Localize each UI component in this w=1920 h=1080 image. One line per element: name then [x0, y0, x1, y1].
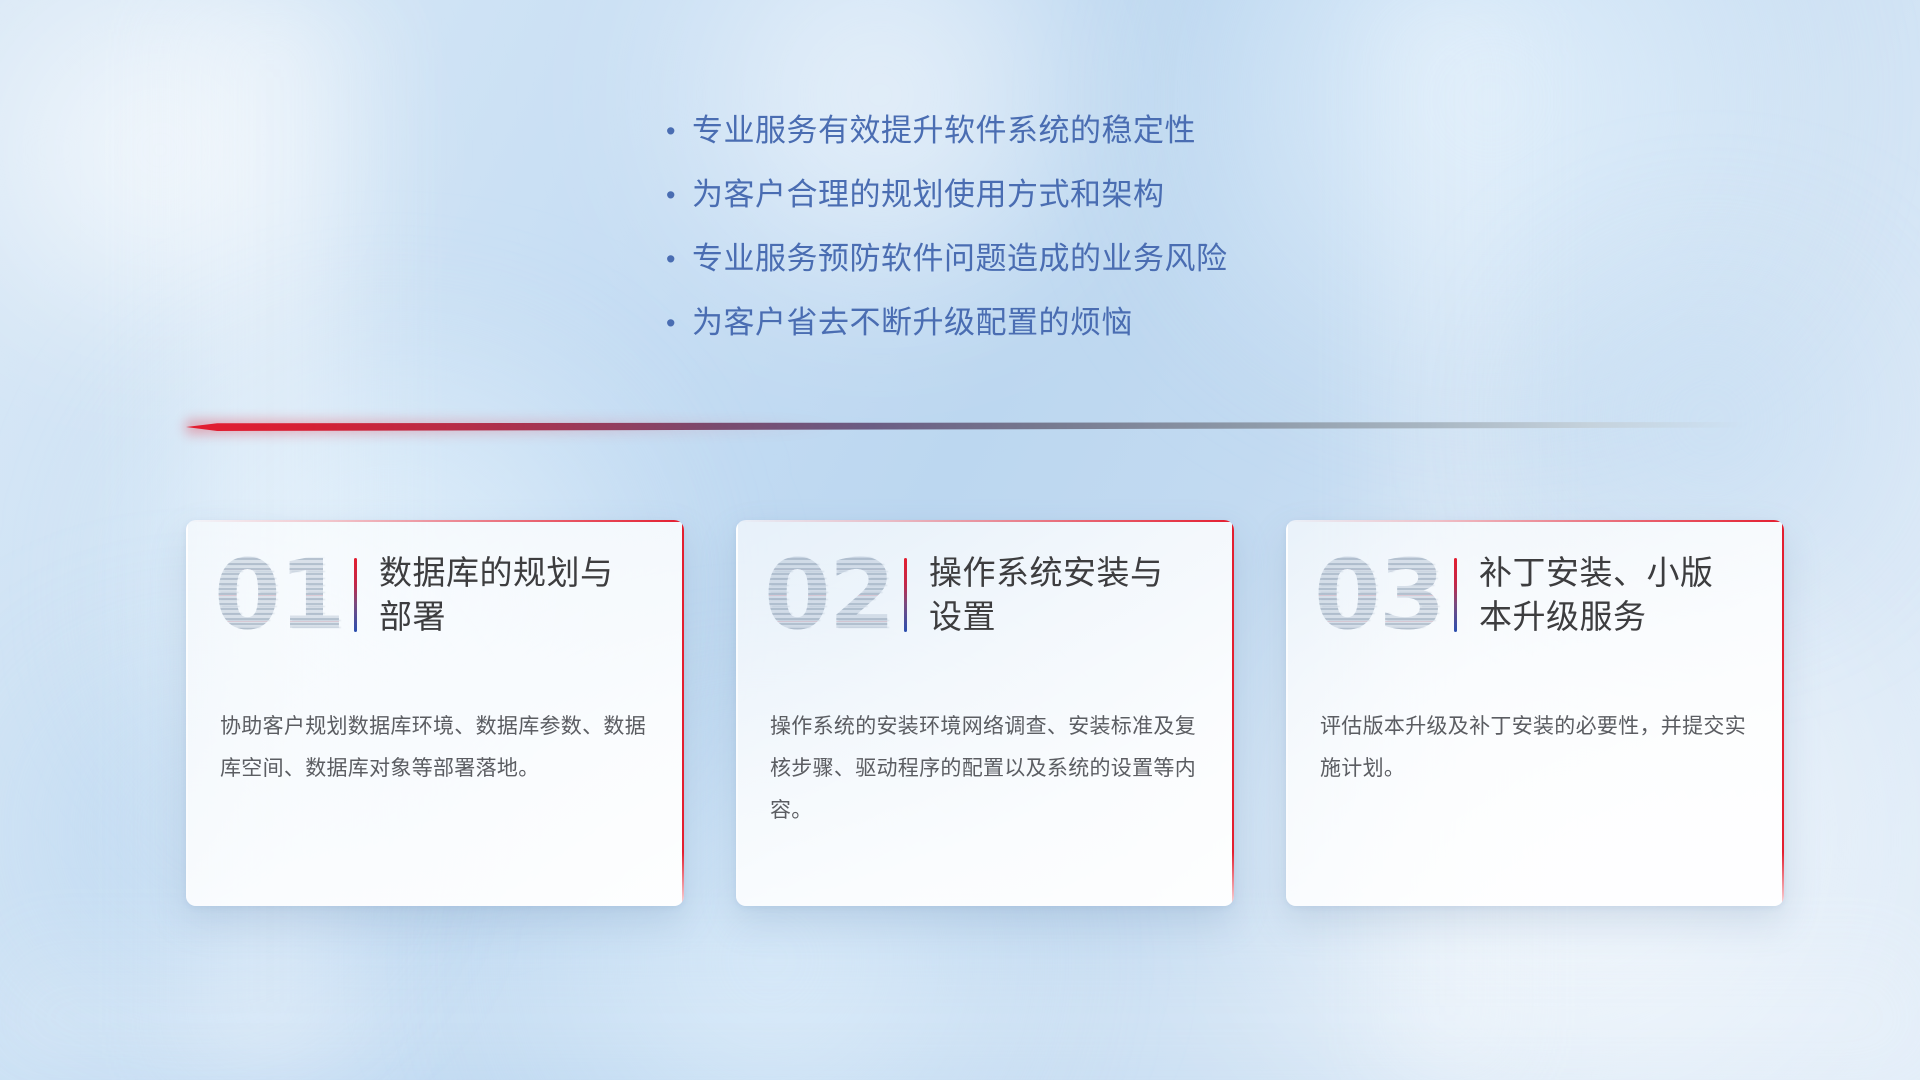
- card-row: 01 数据库的规划与部署 协助客户规划数据库环境、数据库参数、数据库空间、数据库…: [0, 520, 1920, 940]
- list-item: • 为客户省去不断升级配置的烦恼: [660, 302, 1480, 344]
- card-number-watermark: 03: [1314, 543, 1446, 647]
- bullet-dot-icon: •: [660, 174, 692, 216]
- card-header: 03 补丁安装、小版本升级服务: [1286, 520, 1784, 670]
- card-header: 01 数据库的规划与部署: [186, 520, 684, 670]
- card-body-text: 评估版本升级及补丁安装的必要性，并提交实施计划。: [1286, 670, 1784, 790]
- list-item: • 为客户合理的规划使用方式和架构: [660, 174, 1480, 216]
- service-card-03[interactable]: 03 补丁安装、小版本升级服务 评估版本升级及补丁安装的必要性，并提交实施计划。: [1286, 520, 1784, 906]
- divider-line: [186, 422, 1746, 431]
- bullet-dot-icon: •: [660, 110, 692, 152]
- bullet-text: 专业服务预防软件问题造成的业务风险: [692, 238, 1228, 280]
- list-item: • 专业服务预防软件问题造成的业务风险: [660, 238, 1480, 280]
- card-title: 补丁安装、小版本升级服务: [1479, 551, 1729, 639]
- card-number-watermark: 01: [214, 543, 346, 647]
- bullet-list: • 专业服务有效提升软件系统的稳定性 • 为客户合理的规划使用方式和架构 • 专…: [660, 110, 1480, 366]
- section-divider: [186, 418, 1746, 440]
- card-title: 操作系统安装与设置: [929, 551, 1179, 639]
- bullet-text: 为客户省去不断升级配置的烦恼: [692, 302, 1133, 344]
- bullet-text: 为客户合理的规划使用方式和架构: [692, 174, 1165, 216]
- card-body-text: 协助客户规划数据库环境、数据库参数、数据库空间、数据库对象等部署落地。: [186, 670, 684, 790]
- list-item: • 专业服务有效提升软件系统的稳定性: [660, 110, 1480, 152]
- bullet-dot-icon: •: [660, 302, 692, 344]
- card-header: 02 操作系统安装与设置: [736, 520, 1234, 670]
- service-card-02[interactable]: 02 操作系统安装与设置 操作系统的安装环境网络调查、安装标准及复核步骤、驱动程…: [736, 520, 1234, 906]
- bullet-text: 专业服务有效提升软件系统的稳定性: [692, 110, 1196, 152]
- card-body-text: 操作系统的安装环境网络调查、安装标准及复核步骤、驱动程序的配置以及系统的设置等内…: [736, 670, 1234, 832]
- card-accent-bar: [354, 558, 357, 632]
- card-number-watermark: 02: [764, 543, 896, 647]
- bullet-dot-icon: •: [660, 238, 692, 280]
- card-accent-bar: [1454, 558, 1457, 632]
- card-title: 数据库的规划与部署: [379, 551, 629, 639]
- card-accent-bar: [904, 558, 907, 632]
- service-card-01[interactable]: 01 数据库的规划与部署 协助客户规划数据库环境、数据库参数、数据库空间、数据库…: [186, 520, 684, 906]
